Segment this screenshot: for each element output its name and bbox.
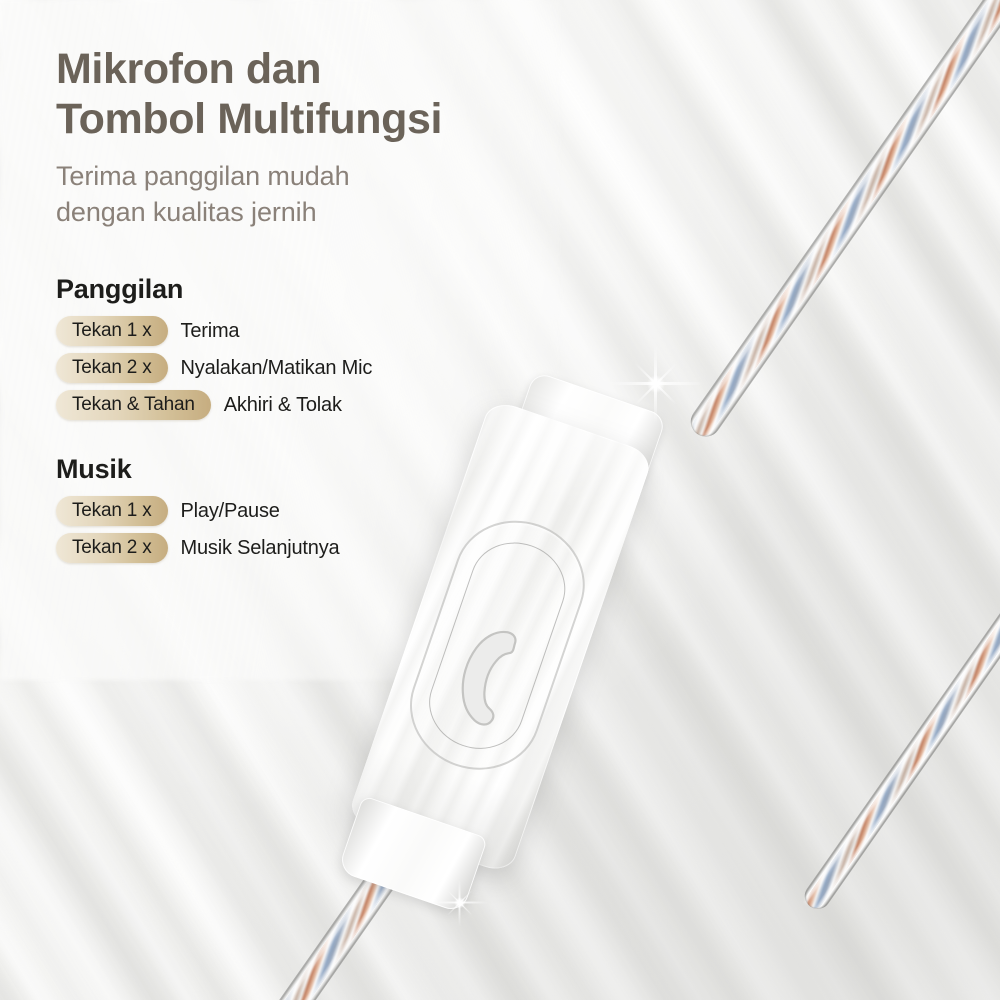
press-badge: Tekan & Tahan: [56, 390, 211, 420]
section-panggilan: Panggilan Tekan 1 x Terima Tekan 2 x Nya…: [56, 274, 576, 420]
feature-description: Nyalakan/Matikan Mic: [181, 357, 373, 380]
press-badge: Tekan 1 x: [56, 316, 168, 346]
feature-row: Tekan 1 x Terima: [56, 316, 576, 346]
feature-row: Tekan 2 x Musik Selanjutnya: [56, 533, 576, 563]
subtitle: Terima panggilan mudah dengan kualitas j…: [56, 159, 576, 231]
press-badge: Tekan 2 x: [56, 533, 168, 563]
press-badge: Tekan 2 x: [56, 353, 168, 383]
feature-description: Musik Selanjutnya: [181, 537, 340, 560]
section-musik: Musik Tekan 1 x Play/Pause Tekan 2 x Mus…: [56, 454, 576, 563]
feature-row: Tekan 2 x Nyalakan/Matikan Mic: [56, 353, 576, 383]
press-badge: Tekan 1 x: [56, 496, 168, 526]
headline: Mikrofon dan Tombol Multifungsi: [56, 44, 576, 145]
feature-description: Terima: [181, 320, 240, 343]
section-title: Musik: [56, 454, 576, 485]
feature-description: Akhiri & Tolak: [224, 394, 342, 417]
feature-description: Play/Pause: [181, 500, 280, 523]
text-panel: Mikrofon dan Tombol Multifungsi Terima p…: [56, 44, 576, 570]
feature-row: Tekan 1 x Play/Pause: [56, 496, 576, 526]
feature-row: Tekan & Tahan Akhiri & Tolak: [56, 390, 576, 420]
section-title: Panggilan: [56, 274, 576, 305]
product-feature-graphic: Mikrofon dan Tombol Multifungsi Terima p…: [0, 0, 1000, 1000]
